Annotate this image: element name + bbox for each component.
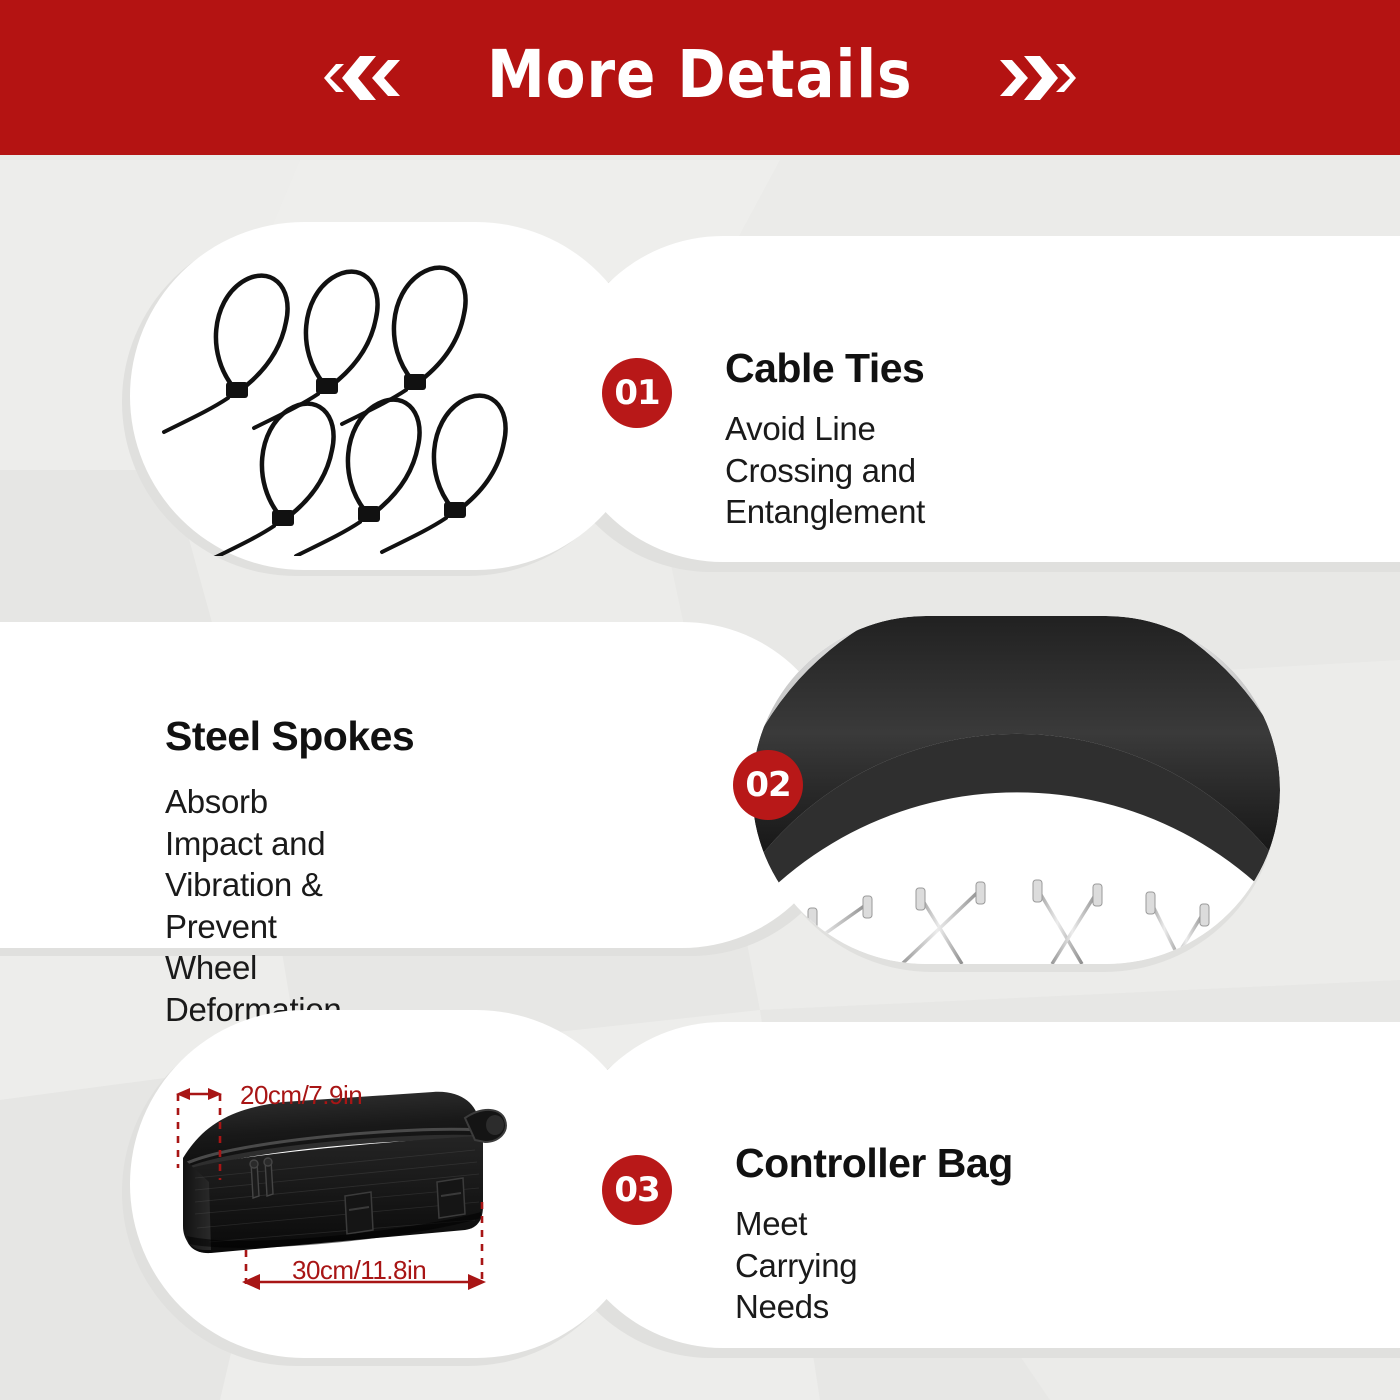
feature-2-subtitle-line-1: Absorb Impact and Vibration &: [165, 781, 341, 906]
feature-1-number-badge: 01: [602, 358, 672, 428]
feature-1-title: Cable Ties: [725, 345, 924, 392]
feature-3-subtitle-line-1: Meet Carrying Needs: [735, 1203, 857, 1328]
cable-ties-photo: [152, 246, 512, 556]
feature-3-subtitle: Meet Carrying Needs: [735, 1203, 857, 1328]
feature-1-subtitle: Avoid Line Crossing and Entanglement: [725, 408, 925, 533]
bag-length-dimension-label: 30cm/11.8in: [292, 1255, 426, 1286]
feature-2-number: 02: [745, 765, 790, 805]
page-header: More Details: [0, 0, 1400, 155]
bag-width-dimension-label: 20cm/7.9in: [240, 1080, 362, 1111]
feature-2-text-card: [0, 622, 845, 948]
feature-1-text-card: [560, 236, 1400, 562]
feature-1-number: 01: [614, 373, 659, 413]
feature-3-title: Controller Bag: [735, 1140, 1013, 1187]
page-title: More Details: [487, 42, 912, 114]
feature-2-number-badge: 02: [733, 750, 803, 820]
double-chevron-right-icon: [988, 50, 1076, 106]
feature-3-number-badge: 03: [602, 1155, 672, 1225]
feature-2-title: Steel Spokes: [165, 713, 414, 760]
wheel-spokes-photo: [752, 616, 1280, 964]
feature-1-subtitle-line-1: Avoid Line Crossing and: [725, 408, 925, 491]
double-chevron-left-icon: [324, 50, 412, 106]
feature-1-subtitle-line-2: Entanglement: [725, 491, 925, 533]
feature-2-image-card: [752, 616, 1280, 964]
feature-2-subtitle: Absorb Impact and Vibration & Prevent Wh…: [165, 781, 341, 1030]
feature-3-number: 03: [614, 1170, 659, 1210]
